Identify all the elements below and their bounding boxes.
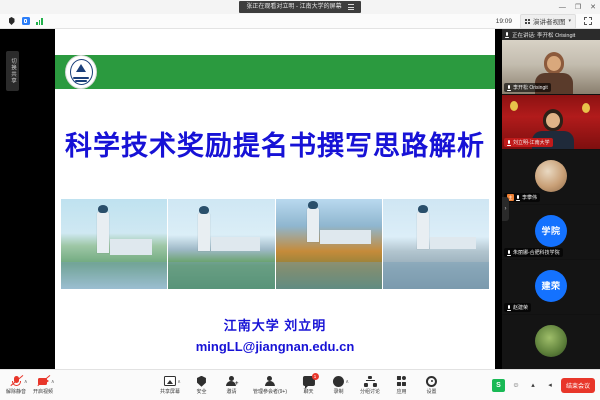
avatar: 建荣: [535, 270, 567, 302]
smiley-icon[interactable]: ☺: [510, 379, 522, 391]
meeting-time: 19:09: [496, 18, 512, 25]
avatar: 学院: [535, 215, 567, 247]
view-mode-selector[interactable]: 演讲者视图 ▾: [520, 14, 576, 29]
share-screen-icon: ∧: [164, 375, 176, 388]
invite-button[interactable]: + 邀请: [223, 375, 240, 396]
avatar: [535, 160, 567, 192]
volume-icon[interactable]: ◂: [544, 379, 556, 391]
participant-tile[interactable]: 李开松 Orisingit: [502, 40, 600, 95]
view-mode-label: 演讲者视图: [533, 16, 566, 26]
chat-button[interactable]: 1 聊天: [300, 375, 317, 396]
shared-content-stage: 切换共享 科学技术奖励提名书撰写思路解析: [0, 29, 502, 369]
participant-tile[interactable]: 主 李攀伟: [502, 150, 600, 205]
participant-tile[interactable]: [502, 315, 600, 369]
chevron-up-icon[interactable]: ∧: [177, 379, 181, 385]
mic-icon: [505, 32, 509, 38]
manage-participants-label: 管理参会者(9+): [253, 389, 287, 395]
participant-name-badge: 李开松 Orisingit: [504, 83, 551, 92]
close-button[interactable]: ✕: [590, 4, 596, 11]
participant-name: 李攀伟: [522, 194, 537, 202]
security-button[interactable]: 安全: [193, 375, 210, 396]
mic-icon: [507, 250, 511, 256]
sidebar-collapse-toggle[interactable]: ›: [502, 197, 509, 221]
slide-header-band: [55, 55, 495, 89]
lock-icon[interactable]: [21, 17, 30, 26]
toolbar-left-group: ∧ 解除静音 ∧ 开启视频: [0, 375, 53, 396]
fullscreen-icon[interactable]: [584, 17, 592, 25]
participants-icon: [264, 375, 276, 388]
maximize-button[interactable]: ❐: [575, 4, 581, 11]
info-icon[interactable]: [7, 17, 16, 26]
active-speaker-bar: 正在讲话: 李开松 Orisingit: [502, 29, 600, 40]
switch-share-tab[interactable]: 切换共享: [6, 51, 19, 91]
apps-button[interactable]: 应用: [393, 375, 410, 396]
settings-label: 设置: [427, 389, 437, 395]
participant-name-badge: 刘立明-江南大学: [504, 138, 553, 147]
participant-tile[interactable]: 刘立明-江南大学: [502, 95, 600, 150]
app-tray-badge[interactable]: S: [492, 379, 505, 392]
breakout-rooms-button[interactable]: 分组讨论: [360, 375, 380, 396]
participant-name-badge: 主 李攀伟: [504, 193, 540, 202]
hamburger-icon[interactable]: [348, 4, 354, 9]
presentation-slide: 科学技术奖励提名书撰写思路解析: [55, 29, 495, 369]
slide-photo-4: [383, 199, 489, 289]
chevron-down-icon: ▾: [568, 18, 571, 24]
participant-name: 朱丽娜-合肥科技学院: [513, 249, 560, 257]
mic-icon: [507, 140, 511, 146]
window-title: 张正在观看对立明 - 江南大学的屏幕: [246, 3, 341, 12]
participant-name: 李开松 Orisingit: [513, 84, 548, 92]
manage-participants-button[interactable]: 管理参会者(9+): [253, 375, 287, 396]
active-speaker-label: 正在讲话: 李开松 Orisingit: [512, 31, 575, 39]
chevron-up-icon[interactable]: ∧: [345, 379, 349, 385]
appbar-right-controls: 19:09 演讲者视图 ▾: [496, 14, 600, 29]
participant-name-badge: 朱丽娜-合肥科技学院: [504, 248, 563, 257]
chevron-up-icon[interactable]: ∧: [24, 379, 28, 385]
participant-tile[interactable]: 学院 朱丽娜-合肥科技学院: [502, 205, 600, 260]
settings-gear-icon: [426, 375, 437, 388]
chat-unread-badge: 1: [312, 373, 319, 380]
mic-off-icon: ∧: [10, 375, 23, 388]
appbar-status-icons: [0, 17, 44, 26]
grid-view-icon: [525, 19, 530, 24]
window-controls: — ❐ ✕: [559, 0, 596, 14]
slide-email: mingLL@jiangnan.edu.cn: [55, 339, 495, 354]
chat-icon: 1: [303, 375, 315, 388]
participant-sidebar: 正在讲话: 李开松 Orisingit 李开松 Orisingit 刘立明-江南…: [502, 29, 600, 369]
participant-name: 赵建荣: [513, 304, 528, 312]
slide-photo-1: [61, 199, 167, 289]
share-screen-label: 共享屏幕: [160, 389, 180, 395]
slide-title: 科学技术奖励提名书撰写思路解析: [55, 124, 495, 163]
slide-photo-strip: [61, 199, 489, 289]
start-video-label: 开启视频: [33, 389, 53, 395]
start-video-button[interactable]: ∧ 开启视频: [33, 375, 53, 396]
apps-icon: [397, 375, 407, 388]
leave-meeting-button[interactable]: 结束会议: [561, 378, 595, 393]
avatar: [535, 325, 567, 357]
window-titlebar: 张正在观看对立明 - 江南大学的屏幕 — ❐ ✕: [0, 0, 600, 14]
network-signal-icon[interactable]: [35, 17, 44, 26]
security-shield-icon: [197, 375, 206, 388]
record-button[interactable]: ∧ 录制: [330, 375, 347, 396]
security-label: 安全: [196, 389, 206, 395]
settings-button[interactable]: 设置: [423, 375, 440, 396]
toolbar-center-group: ∧ 共享屏幕 安全 + 邀请 管理参会者(9+): [160, 375, 440, 396]
invite-icon: +: [225, 375, 237, 388]
apps-label: 应用: [397, 389, 407, 395]
meeting-window: 张正在观看对立明 - 江南大学的屏幕 — ❐ ✕ 19:09 演讲者视图 ▾ 切…: [0, 0, 600, 400]
slide-photo-2: [168, 199, 274, 289]
slide-photo-3: [276, 199, 382, 289]
toolbar-right-group: S ☺ ▴ ◂ 结束会议: [492, 378, 600, 393]
unmute-audio-label: 解除静音: [6, 389, 26, 395]
breakout-rooms-icon: [364, 375, 377, 388]
minimize-button[interactable]: —: [559, 4, 566, 11]
participant-name: 刘立明-江南大学: [513, 139, 550, 147]
university-logo-icon: [66, 56, 96, 88]
slide-presenter: 江南大学 刘立明: [55, 315, 495, 334]
record-label: 录制: [334, 389, 344, 395]
participant-tile[interactable]: 建荣 赵建荣: [502, 260, 600, 315]
record-icon: ∧: [333, 375, 344, 388]
invite-label: 邀请: [226, 389, 236, 395]
unmute-audio-button[interactable]: ∧ 解除静音: [6, 375, 26, 396]
share-screen-button[interactable]: ∧ 共享屏幕: [160, 375, 180, 396]
mic-icon: [507, 85, 511, 91]
mic-icon: [516, 195, 520, 201]
shared-screen-title-pill: 张正在观看对立明 - 江南大学的屏幕: [239, 1, 360, 13]
chat-label: 聊天: [304, 389, 314, 395]
camera-off-icon: ∧: [37, 375, 50, 388]
mic-icon: [507, 305, 511, 311]
participant-name-badge: 赵建荣: [504, 303, 531, 312]
breakout-rooms-label: 分组讨论: [360, 389, 380, 395]
chevron-up-icon[interactable]: ∧: [51, 379, 55, 385]
wifi-icon[interactable]: ▴: [527, 379, 539, 391]
meeting-toolbar: ∧ 解除静音 ∧ 开启视频 ∧ 共享屏幕: [0, 369, 600, 400]
meeting-appbar: 19:09 演讲者视图 ▾: [0, 14, 600, 29]
